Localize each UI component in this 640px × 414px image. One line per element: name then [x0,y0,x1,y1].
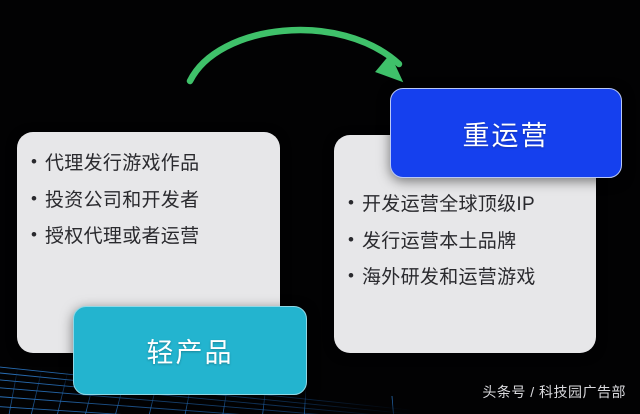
light-product-badge: 轻产品 [73,306,307,395]
heavy-operations-bullet-list: • 开发运营全球顶级IP • 发行运营本土品牌 • 海外研发和运营游戏 [348,191,584,292]
list-item: • 代理发行游戏作品 [31,150,266,178]
curved-arrow-icon [190,30,411,82]
light-product-badge-label: 轻产品 [147,331,234,370]
bullet-dot-icon: • [348,228,362,253]
bullet-dot-icon: • [348,191,362,216]
heavy-operations-badge: 重运营 [390,88,622,178]
list-item: • 开发运营全球顶级IP [348,191,584,219]
bullet-dot-icon: • [348,264,362,289]
list-item-label: 投资公司和开发者 [45,187,266,215]
bullet-dot-icon: • [31,150,45,175]
bullet-dot-icon: • [31,223,45,248]
list-item: • 授权代理或者运营 [31,223,266,251]
list-item: • 投资公司和开发者 [31,187,266,215]
list-item-label: 代理发行游戏作品 [45,150,266,178]
heavy-operations-badge-label: 重运营 [463,114,550,153]
list-item-label: 发行运营本土品牌 [362,228,584,256]
slide-canvas: • 代理发行游戏作品 • 投资公司和开发者 • 授权代理或者运营 • 开发运营全… [0,0,640,414]
list-item-label: 海外研发和运营游戏 [362,264,584,292]
light-product-bullet-list: • 代理发行游戏作品 • 投资公司和开发者 • 授权代理或者运营 [31,150,266,251]
list-item: • 发行运营本土品牌 [348,228,584,256]
list-item: • 海外研发和运营游戏 [348,264,584,292]
list-item-label: 授权代理或者运营 [45,223,266,251]
bullet-dot-icon: • [31,187,45,212]
watermark-credit: 头条号 / 科技园广告部 [482,382,626,402]
list-item-label: 开发运营全球顶级IP [362,191,584,219]
